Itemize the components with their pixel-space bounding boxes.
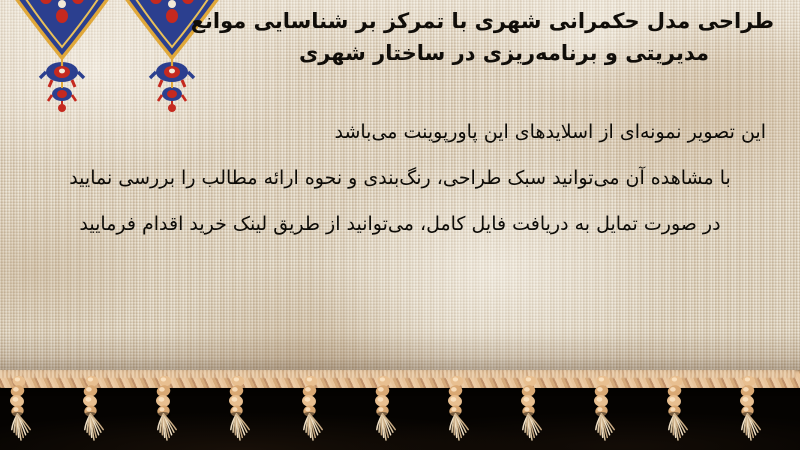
carpet-tassel-icon [592,376,622,450]
slide-title-line-2: مدیریتی و برنامه‌ریزی در ساختار شهری [234,38,774,70]
carpet-tassel-fringe [0,370,800,450]
carpet-tassel-icon [154,376,184,450]
carpet-tassel-icon [300,376,330,450]
carpet-tassel-icon [665,376,695,450]
presentation-slide: طراحی مدل حکمرانی شهری با تمرکز بر شناسا… [0,0,800,450]
carpet-tassel-icon [446,376,476,450]
slide-body-line-3: در صورت تمایل به دریافت فایل کامل، می‌تو… [34,202,766,248]
carpet-tassel-icon [227,376,257,450]
slide-body: این تصویر نمونه‌ای از اسلایدهای این پاور… [34,110,766,248]
persian-carpet-medallion-pendant-icon [6,0,118,118]
carpet-tassel-icon [519,376,549,450]
slide-title: طراحی مدل حکمرانی شهری با تمرکز بر شناسا… [234,6,774,70]
slide-title-line-1: طراحی مدل حکمرانی شهری با تمرکز بر شناسا… [234,6,774,38]
carpet-tassel-icon [373,376,403,450]
slide-body-line-2: با مشاهده آن می‌توانید سبک طراحی، رنگ‌بن… [34,156,766,202]
slide-body-line-1: این تصویر نمونه‌ای از اسلایدهای این پاور… [34,110,766,156]
carpet-tassel-icon [81,376,111,450]
carpet-tassel-icon [738,376,768,450]
carpet-tassel-icon [8,376,38,450]
